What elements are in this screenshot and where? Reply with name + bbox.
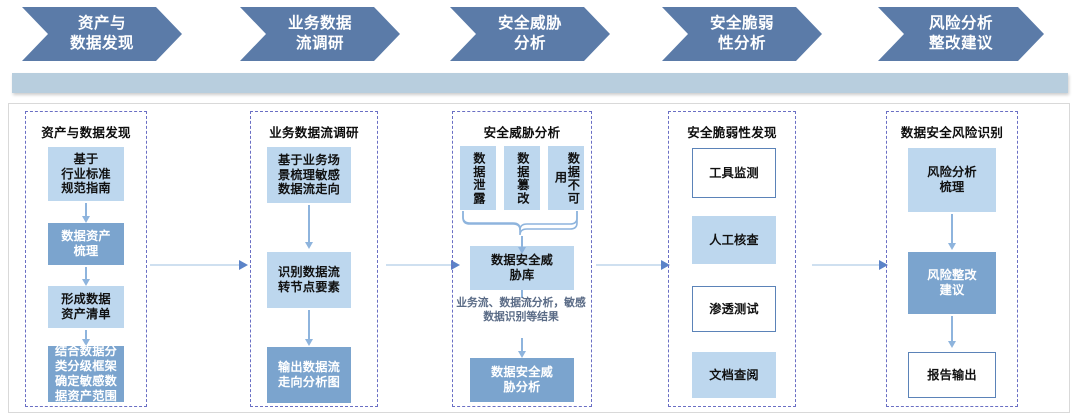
box-sensitive-scope-label: 结合数据分 类分级框架 确定敏感数 据资产范围	[55, 344, 117, 404]
connector-col2-col3	[386, 264, 452, 266]
chevron-step-4-line-2: 性分析	[710, 34, 774, 54]
box-asset-list[interactable]: 形成数据 资产清单	[48, 286, 124, 328]
column-title-threat-analysis: 安全威胁分析	[453, 122, 591, 141]
box-threat-library-label: 数据安全威 胁库	[491, 253, 553, 283]
chevron-step-4[interactable]: 安全脆弱 性分析	[662, 7, 822, 61]
arrow-nodes-to-output	[308, 310, 310, 340]
chip-data-unavailable[interactable]: 数据不可用	[548, 146, 584, 210]
box-threat-analysis-output[interactable]: 数据安全威 胁分析	[470, 358, 574, 402]
chip-data-tamper[interactable]: 数据篡改	[504, 146, 540, 210]
box-risk-analysis-label: 风险分析 梳理	[927, 165, 977, 195]
column-title-business-dataflow: 业务数据流调研	[251, 122, 377, 141]
chevron-step-3-line-2: 分析	[498, 34, 562, 54]
box-manual-review[interactable]: 人工核查	[692, 216, 776, 264]
box-sensitive-scope[interactable]: 结合数据分 类分级框架 确定敏感数 据资产范围	[48, 346, 124, 402]
box-document-review-label: 文档查阅	[709, 368, 759, 383]
arrow-standards-to-inventory	[85, 203, 87, 217]
box-flow-nodes-label: 识别数据流 转节点要素	[278, 265, 340, 295]
column-title-vulnerability-discovery: 安全脆弱性发现	[669, 122, 795, 141]
chevron-step-2-line-2: 流调研	[288, 34, 352, 54]
connector-col4-col5	[812, 264, 880, 266]
chevron-step-3-line-1: 安全威胁	[498, 14, 562, 34]
line-library-to-note	[521, 236, 523, 248]
chevron-step-5-line-2: 整改建议	[929, 34, 993, 54]
banner-bar	[12, 73, 1068, 93]
box-flow-nodes[interactable]: 识别数据流 转节点要素	[267, 252, 351, 308]
box-threat-analysis-output-label: 数据安全威 胁分析	[491, 365, 553, 395]
box-flow-chart-output[interactable]: 输出数据流 走向分析图	[267, 347, 351, 403]
chip-data-tamper-label: 数据篡改	[516, 152, 529, 205]
arrow-remediation-to-report	[951, 316, 953, 342]
arrow-inventory-to-list	[85, 267, 87, 280]
box-scenario-flow-label: 基于业务场 景梳理敏感 数据流走向	[278, 153, 340, 198]
chevron-step-1-line-1: 资产与	[70, 14, 134, 34]
process-step-band: 资产与 数据发现 业务数据 流调研 安全威胁 分析 安全脆弱 性分析 风险分析 …	[0, 0, 1080, 66]
chevron-step-2-line-1: 业务数据	[288, 14, 352, 34]
chip-data-unavailable-label: 数据不可用	[553, 146, 579, 210]
column-title-asset-discovery: 资产与数据发现	[26, 122, 146, 141]
box-asset-inventory-label: 数据资产 梳理	[61, 229, 111, 259]
box-standards-label: 基于 行业标准 规范指南	[61, 152, 111, 197]
box-manual-review-label: 人工核查	[709, 233, 759, 248]
arrow-scenario-to-nodes	[308, 205, 310, 243]
chevron-step-5-line-1: 风险分析	[929, 14, 993, 34]
column-title-risk-identification: 数据安全风险识别	[887, 122, 1017, 141]
box-risk-remediation-label: 风险整改 建议	[927, 268, 977, 298]
box-flow-chart-output-label: 输出数据流 走向分析图	[278, 360, 340, 390]
chip-data-leak-label: 数据泄露	[472, 152, 485, 205]
chevron-step-2[interactable]: 业务数据 流调研	[240, 7, 400, 61]
chevron-step-3[interactable]: 安全威胁 分析	[450, 7, 610, 61]
box-risk-analysis[interactable]: 风险分析 梳理	[908, 148, 996, 212]
box-tool-monitoring-label: 工具监测	[709, 166, 759, 181]
box-risk-remediation[interactable]: 风险整改 建议	[908, 252, 996, 314]
threat-grouping-brace-icon	[461, 210, 579, 236]
box-asset-inventory[interactable]: 数据资产 梳理	[48, 223, 124, 265]
arrow-list-to-scope	[85, 330, 87, 340]
threat-analysis-note: 业务流、数据流分析，敏感数据识别等结果	[456, 296, 586, 325]
box-penetration-test[interactable]: 渗透测试	[692, 286, 776, 332]
chevron-step-1[interactable]: 资产与 数据发现	[22, 7, 182, 61]
box-tool-monitoring[interactable]: 工具监测	[692, 148, 776, 198]
arrow-note-to-analysis	[521, 338, 523, 352]
box-document-review[interactable]: 文档查阅	[692, 352, 776, 398]
chevron-step-5[interactable]: 风险分析 整改建议	[878, 7, 1044, 61]
connector-col3-col4	[596, 264, 662, 266]
box-report-output[interactable]: 报告输出	[908, 352, 996, 398]
box-scenario-flow[interactable]: 基于业务场 景梳理敏感 数据流走向	[267, 147, 351, 203]
box-standards[interactable]: 基于 行业标准 规范指南	[48, 147, 124, 201]
chip-data-leak[interactable]: 数据泄露	[460, 146, 496, 210]
box-report-output-label: 报告输出	[927, 368, 977, 383]
box-asset-list-label: 形成数据 资产清单	[61, 292, 111, 322]
connector-col1-col2	[150, 264, 240, 266]
chevron-step-4-line-1: 安全脆弱	[710, 14, 774, 34]
box-penetration-test-label: 渗透测试	[709, 302, 759, 317]
arrow-risk-analysis-to-remediation	[951, 214, 953, 244]
chevron-step-1-line-2: 数据发现	[70, 34, 134, 54]
